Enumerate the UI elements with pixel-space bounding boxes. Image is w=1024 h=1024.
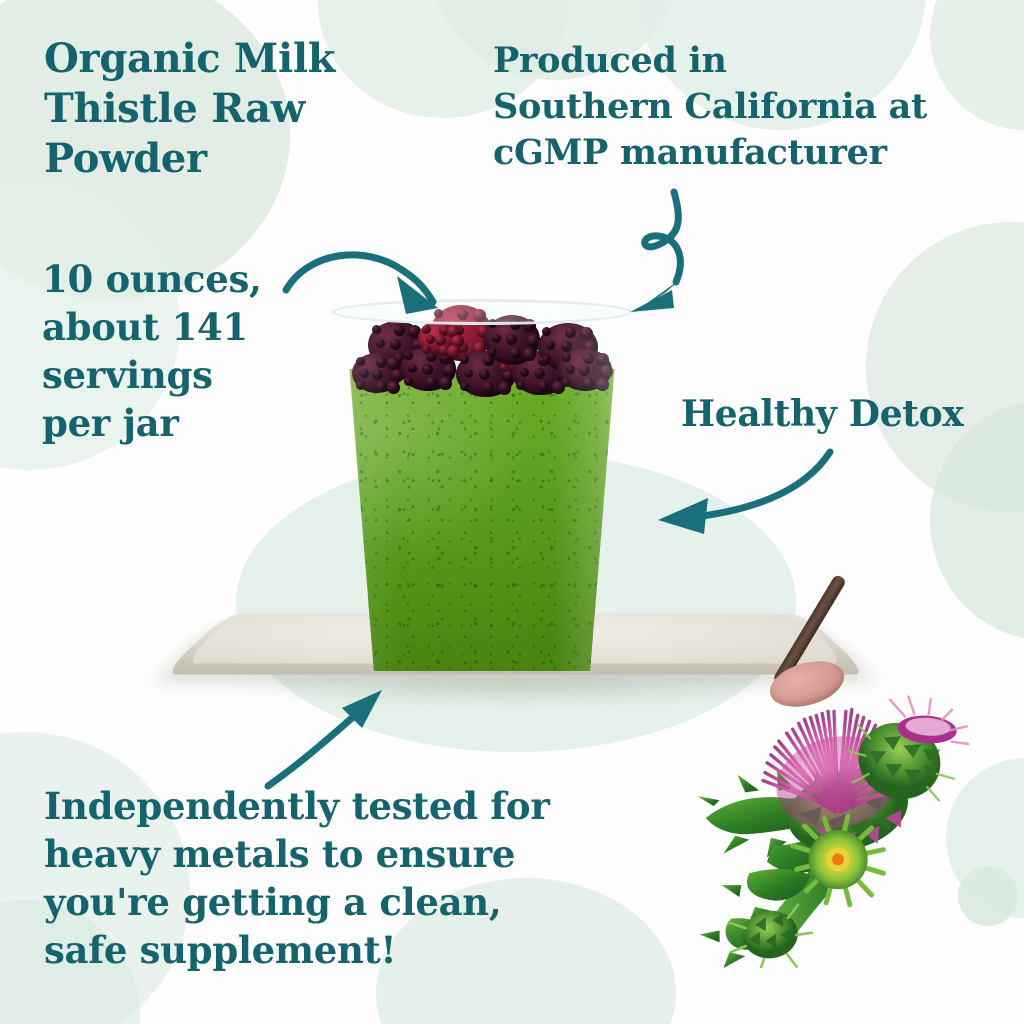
blackberry-druplet: [404, 351, 413, 360]
independently-tested-callout: Independently tested for heavy metals to…: [44, 782, 624, 974]
milk-thistle-illustration: [688, 672, 988, 968]
blackberry-druplet: [404, 377, 413, 386]
blackberry-druplet: [447, 345, 460, 358]
blackberry-druplet: [492, 334, 501, 343]
blackberry-druplet: [580, 327, 593, 340]
bg-blob-right-mid-2: [930, 400, 1024, 640]
blackberry-druplet: [546, 341, 555, 350]
blackberry: [352, 353, 402, 393]
blackberry: [558, 349, 612, 391]
healthy-detox-callout: Healthy Detox: [681, 392, 1011, 436]
blackberry-druplet: [422, 364, 433, 375]
blackberry-druplet: [542, 327, 551, 336]
blackberry-druplet: [426, 335, 435, 344]
blackberry-druplet: [600, 365, 613, 378]
blackberry-druplet: [562, 378, 571, 387]
blackberry-druplet: [579, 365, 590, 376]
blackberry-druplet: [422, 345, 431, 354]
blackberry-druplet: [360, 369, 369, 378]
blackberry-druplet: [479, 369, 490, 380]
blackberry-druplet: [460, 382, 469, 391]
blackberry: [418, 321, 458, 355]
blackberry-druplet: [387, 381, 400, 394]
blackberry-druplet: [488, 348, 497, 357]
poster-canvas: Organic Milk Thistle Raw Powder Produced…: [0, 0, 1024, 1024]
blackberry-druplet: [498, 382, 511, 395]
smoothie-glass: [332, 301, 632, 671]
blackberry-druplet: [372, 369, 383, 380]
blackberry-druplet: [534, 368, 545, 379]
blackberry-druplet: [596, 378, 609, 391]
blackberry-druplet: [516, 381, 525, 390]
blackberry-druplet: [394, 325, 405, 336]
blackberry-druplet: [356, 357, 365, 366]
blackberry-druplet: [439, 377, 452, 390]
blackberry-druplet: [506, 334, 517, 345]
blackberry-druplet: [422, 325, 431, 334]
blackberry-druplet: [387, 357, 400, 370]
blackberry-druplet: [460, 355, 469, 364]
blackberry-druplet: [356, 381, 365, 390]
produced-in-callout: Produced in Southern California at cGMP …: [493, 38, 963, 176]
bg-blob-right-mid: [866, 222, 1024, 512]
blackberry-druplet: [464, 369, 473, 378]
blackberry-druplet: [542, 355, 551, 364]
blackberry-druplet: [583, 378, 594, 389]
blackberry-druplet: [566, 365, 575, 374]
blackberry-druplet: [426, 377, 437, 388]
blackberry-druplet: [376, 339, 385, 348]
servings-callout: 10 ounces, about 141 servings per jar: [42, 255, 342, 447]
blackberry-druplet: [583, 353, 594, 364]
glass-rim: [332, 299, 632, 325]
blackberry-druplet: [376, 381, 387, 392]
green-smoothie-layer: [332, 369, 632, 671]
blackberry-druplet: [483, 382, 494, 393]
blackberry-druplet: [520, 368, 529, 377]
blackberry-druplet: [562, 353, 571, 362]
blackberry-druplet: [408, 364, 417, 373]
blackberry-druplet: [390, 339, 401, 350]
blackberry-druplet: [510, 348, 521, 359]
blackberry-druplet: [596, 353, 609, 366]
blackberry-druplet: [538, 381, 549, 392]
product-title: Organic Milk Thistle Raw Powder: [44, 34, 374, 184]
blackberry-druplet: [443, 364, 456, 377]
blackberry-druplet: [561, 341, 572, 352]
blackberry-druplet: [376, 357, 387, 368]
blackberry-druplet: [565, 327, 576, 338]
blackberry-druplet: [372, 325, 381, 334]
